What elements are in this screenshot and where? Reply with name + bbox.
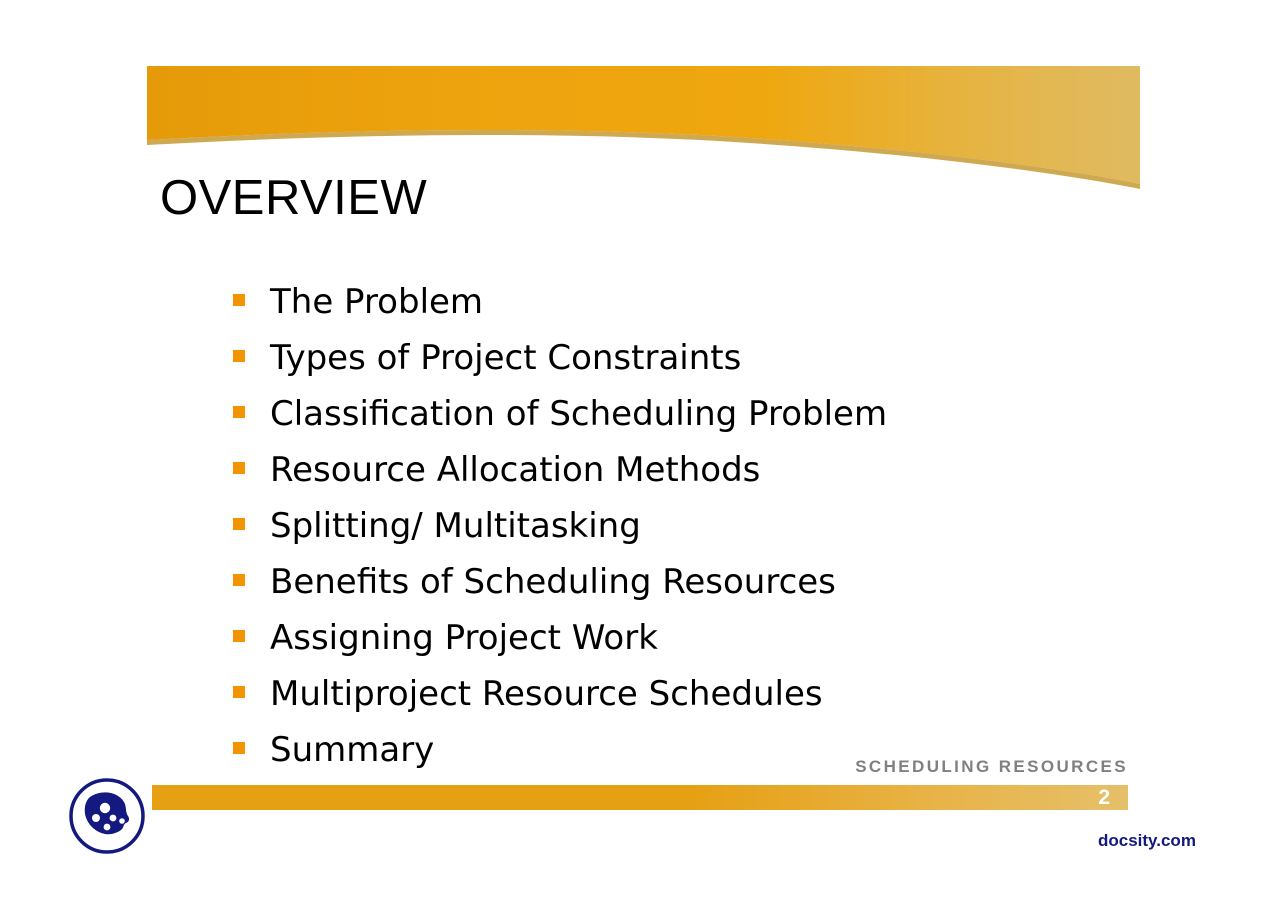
square-bullet-icon bbox=[233, 742, 245, 754]
square-bullet-icon bbox=[233, 630, 245, 642]
square-bullet-icon bbox=[233, 350, 245, 362]
list-item: Assigning Project Work bbox=[233, 610, 1173, 666]
list-item-label: Multiproject Resource Schedules bbox=[270, 666, 823, 722]
square-bullet-icon bbox=[233, 294, 245, 306]
docsity-cookie-logo-icon bbox=[66, 775, 148, 857]
list-item: The Problem bbox=[233, 274, 1173, 330]
overview-bullet-list: The Problem Types of Project Constraints… bbox=[233, 274, 1173, 778]
list-item-label: Benefits of Scheduling Resources bbox=[270, 554, 836, 610]
list-item-label: Summary bbox=[270, 722, 434, 778]
list-item: Benefits of Scheduling Resources bbox=[233, 554, 1173, 610]
square-bullet-icon bbox=[233, 686, 245, 698]
list-item-label: Types of Project Constraints bbox=[270, 330, 741, 386]
footer-section-label: SCHEDULING RESOURCES bbox=[700, 757, 1128, 777]
page-number: 2 bbox=[1098, 785, 1110, 810]
square-bullet-icon bbox=[233, 574, 245, 586]
slide-canvas: OVERVIEW The Problem Types of Project Co… bbox=[0, 0, 1280, 905]
list-item: Classification of Scheduling Problem bbox=[233, 386, 1173, 442]
list-item-label: The Problem bbox=[270, 274, 483, 330]
list-item: Multiproject Resource Schedules bbox=[233, 666, 1173, 722]
page-title: OVERVIEW bbox=[160, 174, 427, 223]
list-item-label: Assigning Project Work bbox=[270, 610, 658, 666]
square-bullet-icon bbox=[233, 406, 245, 418]
footer-bar: 2 bbox=[152, 785, 1128, 810]
square-bullet-icon bbox=[233, 462, 245, 474]
list-item: Types of Project Constraints bbox=[233, 330, 1173, 386]
list-item-label: Splitting/ Multitasking bbox=[270, 498, 641, 554]
list-item: Splitting/ Multitasking bbox=[233, 498, 1173, 554]
docsity-watermark-url: docsity.com bbox=[1098, 831, 1196, 851]
list-item-label: Resource Allocation Methods bbox=[270, 442, 760, 498]
list-item: Resource Allocation Methods bbox=[233, 442, 1173, 498]
list-item-label: Classification of Scheduling Problem bbox=[270, 386, 887, 442]
square-bullet-icon bbox=[233, 518, 245, 530]
